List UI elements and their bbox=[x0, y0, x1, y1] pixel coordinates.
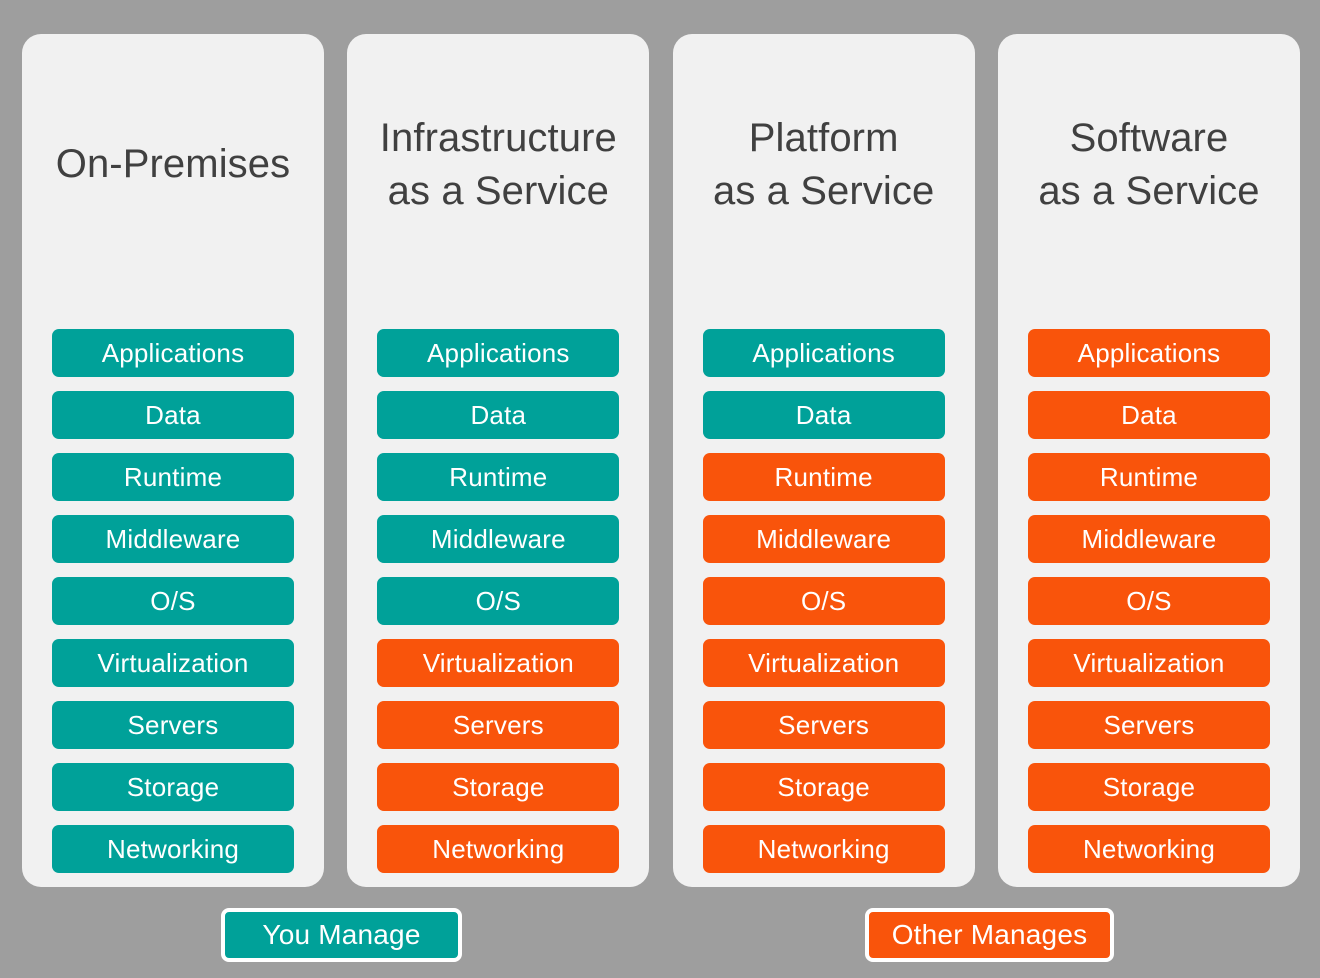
layer-bar: Applications bbox=[52, 329, 294, 377]
layer-bar: Virtualization bbox=[52, 639, 294, 687]
cloud-service-models-diagram: On-PremisesApplicationsDataRuntimeMiddle… bbox=[0, 0, 1320, 978]
card-title: Infrastructure as a Service bbox=[347, 34, 649, 295]
layer-bar: Networking bbox=[52, 825, 294, 873]
layer-bar: Applications bbox=[703, 329, 945, 377]
layer-bar: Runtime bbox=[703, 453, 945, 501]
layer-bar: O/S bbox=[377, 577, 619, 625]
layer-bar: Networking bbox=[703, 825, 945, 873]
layer-bar: Middleware bbox=[703, 515, 945, 563]
layer-bar: Servers bbox=[1028, 701, 1270, 749]
service-model-card: Platform as a ServiceApplicationsDataRun… bbox=[673, 34, 975, 887]
layer-bar: Runtime bbox=[377, 453, 619, 501]
service-model-card: On-PremisesApplicationsDataRuntimeMiddle… bbox=[22, 34, 324, 887]
layer-bar: Storage bbox=[377, 763, 619, 811]
layer-bar: Middleware bbox=[377, 515, 619, 563]
layer-bar: Storage bbox=[52, 763, 294, 811]
card-title: Software as a Service bbox=[998, 34, 1300, 295]
service-model-card: Infrastructure as a ServiceApplicationsD… bbox=[347, 34, 649, 887]
layer-stack: ApplicationsDataRuntimeMiddlewareO/SVirt… bbox=[703, 329, 945, 873]
card-title: On-Premises bbox=[22, 34, 324, 295]
layer-bar: O/S bbox=[703, 577, 945, 625]
layer-bar: Storage bbox=[1028, 763, 1270, 811]
layer-bar: Servers bbox=[377, 701, 619, 749]
layer-bar: Data bbox=[377, 391, 619, 439]
layer-bar: Virtualization bbox=[377, 639, 619, 687]
layer-bar: Data bbox=[703, 391, 945, 439]
layer-bar: Runtime bbox=[1028, 453, 1270, 501]
legend-other-manages: Other Manages bbox=[865, 908, 1114, 962]
layer-bar: Virtualization bbox=[1028, 639, 1270, 687]
layer-bar: Data bbox=[52, 391, 294, 439]
layer-bar: Networking bbox=[377, 825, 619, 873]
legend-you-manage: You Manage bbox=[221, 908, 462, 962]
layer-bar: Middleware bbox=[1028, 515, 1270, 563]
layer-stack: ApplicationsDataRuntimeMiddlewareO/SVirt… bbox=[377, 329, 619, 873]
layer-bar: Runtime bbox=[52, 453, 294, 501]
layer-bar: O/S bbox=[1028, 577, 1270, 625]
card-title: Platform as a Service bbox=[673, 34, 975, 295]
layer-bar: Applications bbox=[377, 329, 619, 377]
layer-bar: Applications bbox=[1028, 329, 1270, 377]
service-model-columns: On-PremisesApplicationsDataRuntimeMiddle… bbox=[22, 34, 1300, 887]
layer-stack: ApplicationsDataRuntimeMiddlewareO/SVirt… bbox=[52, 329, 294, 873]
service-model-card: Software as a ServiceApplicationsDataRun… bbox=[998, 34, 1300, 887]
layer-bar: Data bbox=[1028, 391, 1270, 439]
layer-bar: Servers bbox=[52, 701, 294, 749]
layer-stack: ApplicationsDataRuntimeMiddlewareO/SVirt… bbox=[1028, 329, 1270, 873]
layer-bar: Networking bbox=[1028, 825, 1270, 873]
legend: You ManageOther Manages bbox=[0, 908, 1320, 970]
layer-bar: O/S bbox=[52, 577, 294, 625]
layer-bar: Storage bbox=[703, 763, 945, 811]
layer-bar: Middleware bbox=[52, 515, 294, 563]
layer-bar: Virtualization bbox=[703, 639, 945, 687]
layer-bar: Servers bbox=[703, 701, 945, 749]
